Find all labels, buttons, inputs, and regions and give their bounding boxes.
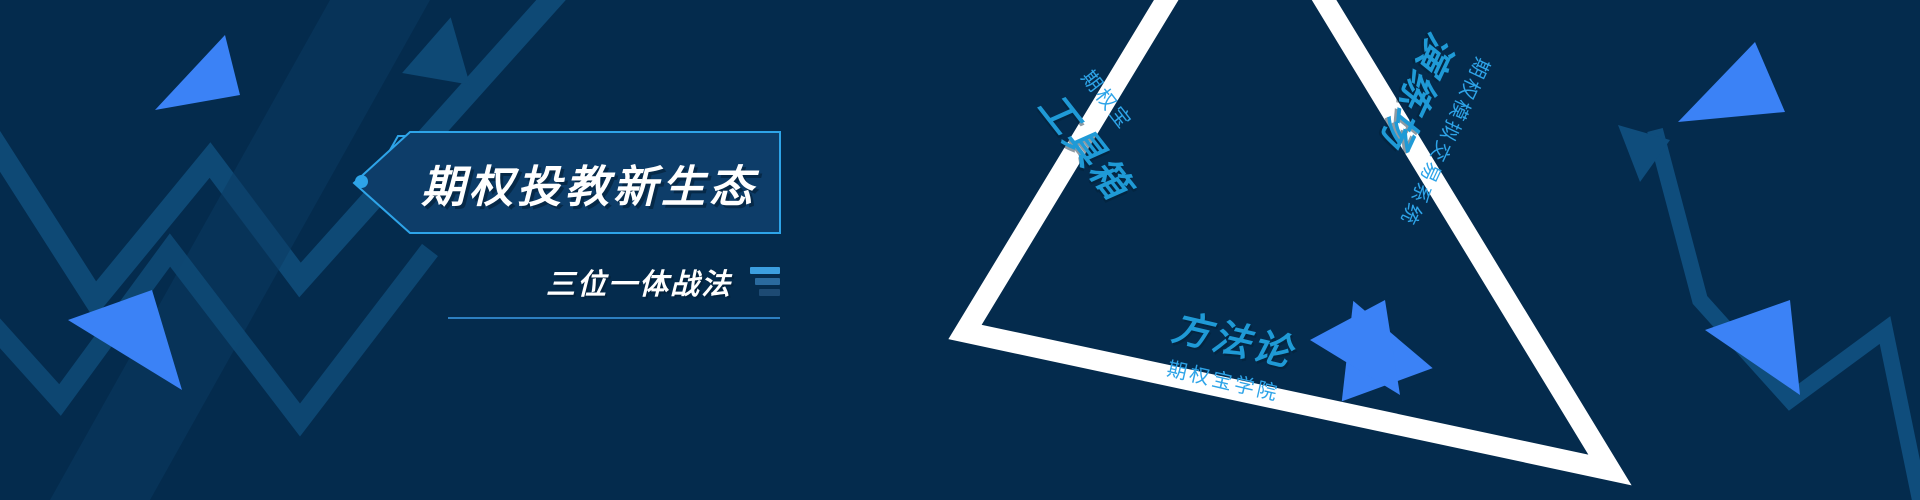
subtitle-underline: [448, 317, 780, 319]
page-title: 期权投教新生态: [414, 130, 764, 235]
hero-subtitle: 三位一体战法: [546, 261, 732, 303]
bars-icon-line-2: [755, 278, 780, 285]
subtitle-row: 三位一体战法: [440, 255, 780, 309]
bars-icon-line-1: [750, 267, 780, 274]
title-node-dot: [355, 175, 368, 188]
option-education-banner: 期权投教新生态 三位一体战法 期权宝 工具箱 期权模拟交易系统 演练场 方法论 …: [0, 0, 1920, 500]
hero-title-badge: 期权投教新生态: [352, 130, 782, 235]
bars-icon: [750, 267, 780, 298]
triangle-outline: [965, 0, 1610, 470]
bars-icon-line-3: [759, 289, 780, 296]
hero-subtitle-block: 三位一体战法: [440, 255, 780, 335]
triangle-diagram: [0, 0, 1920, 500]
